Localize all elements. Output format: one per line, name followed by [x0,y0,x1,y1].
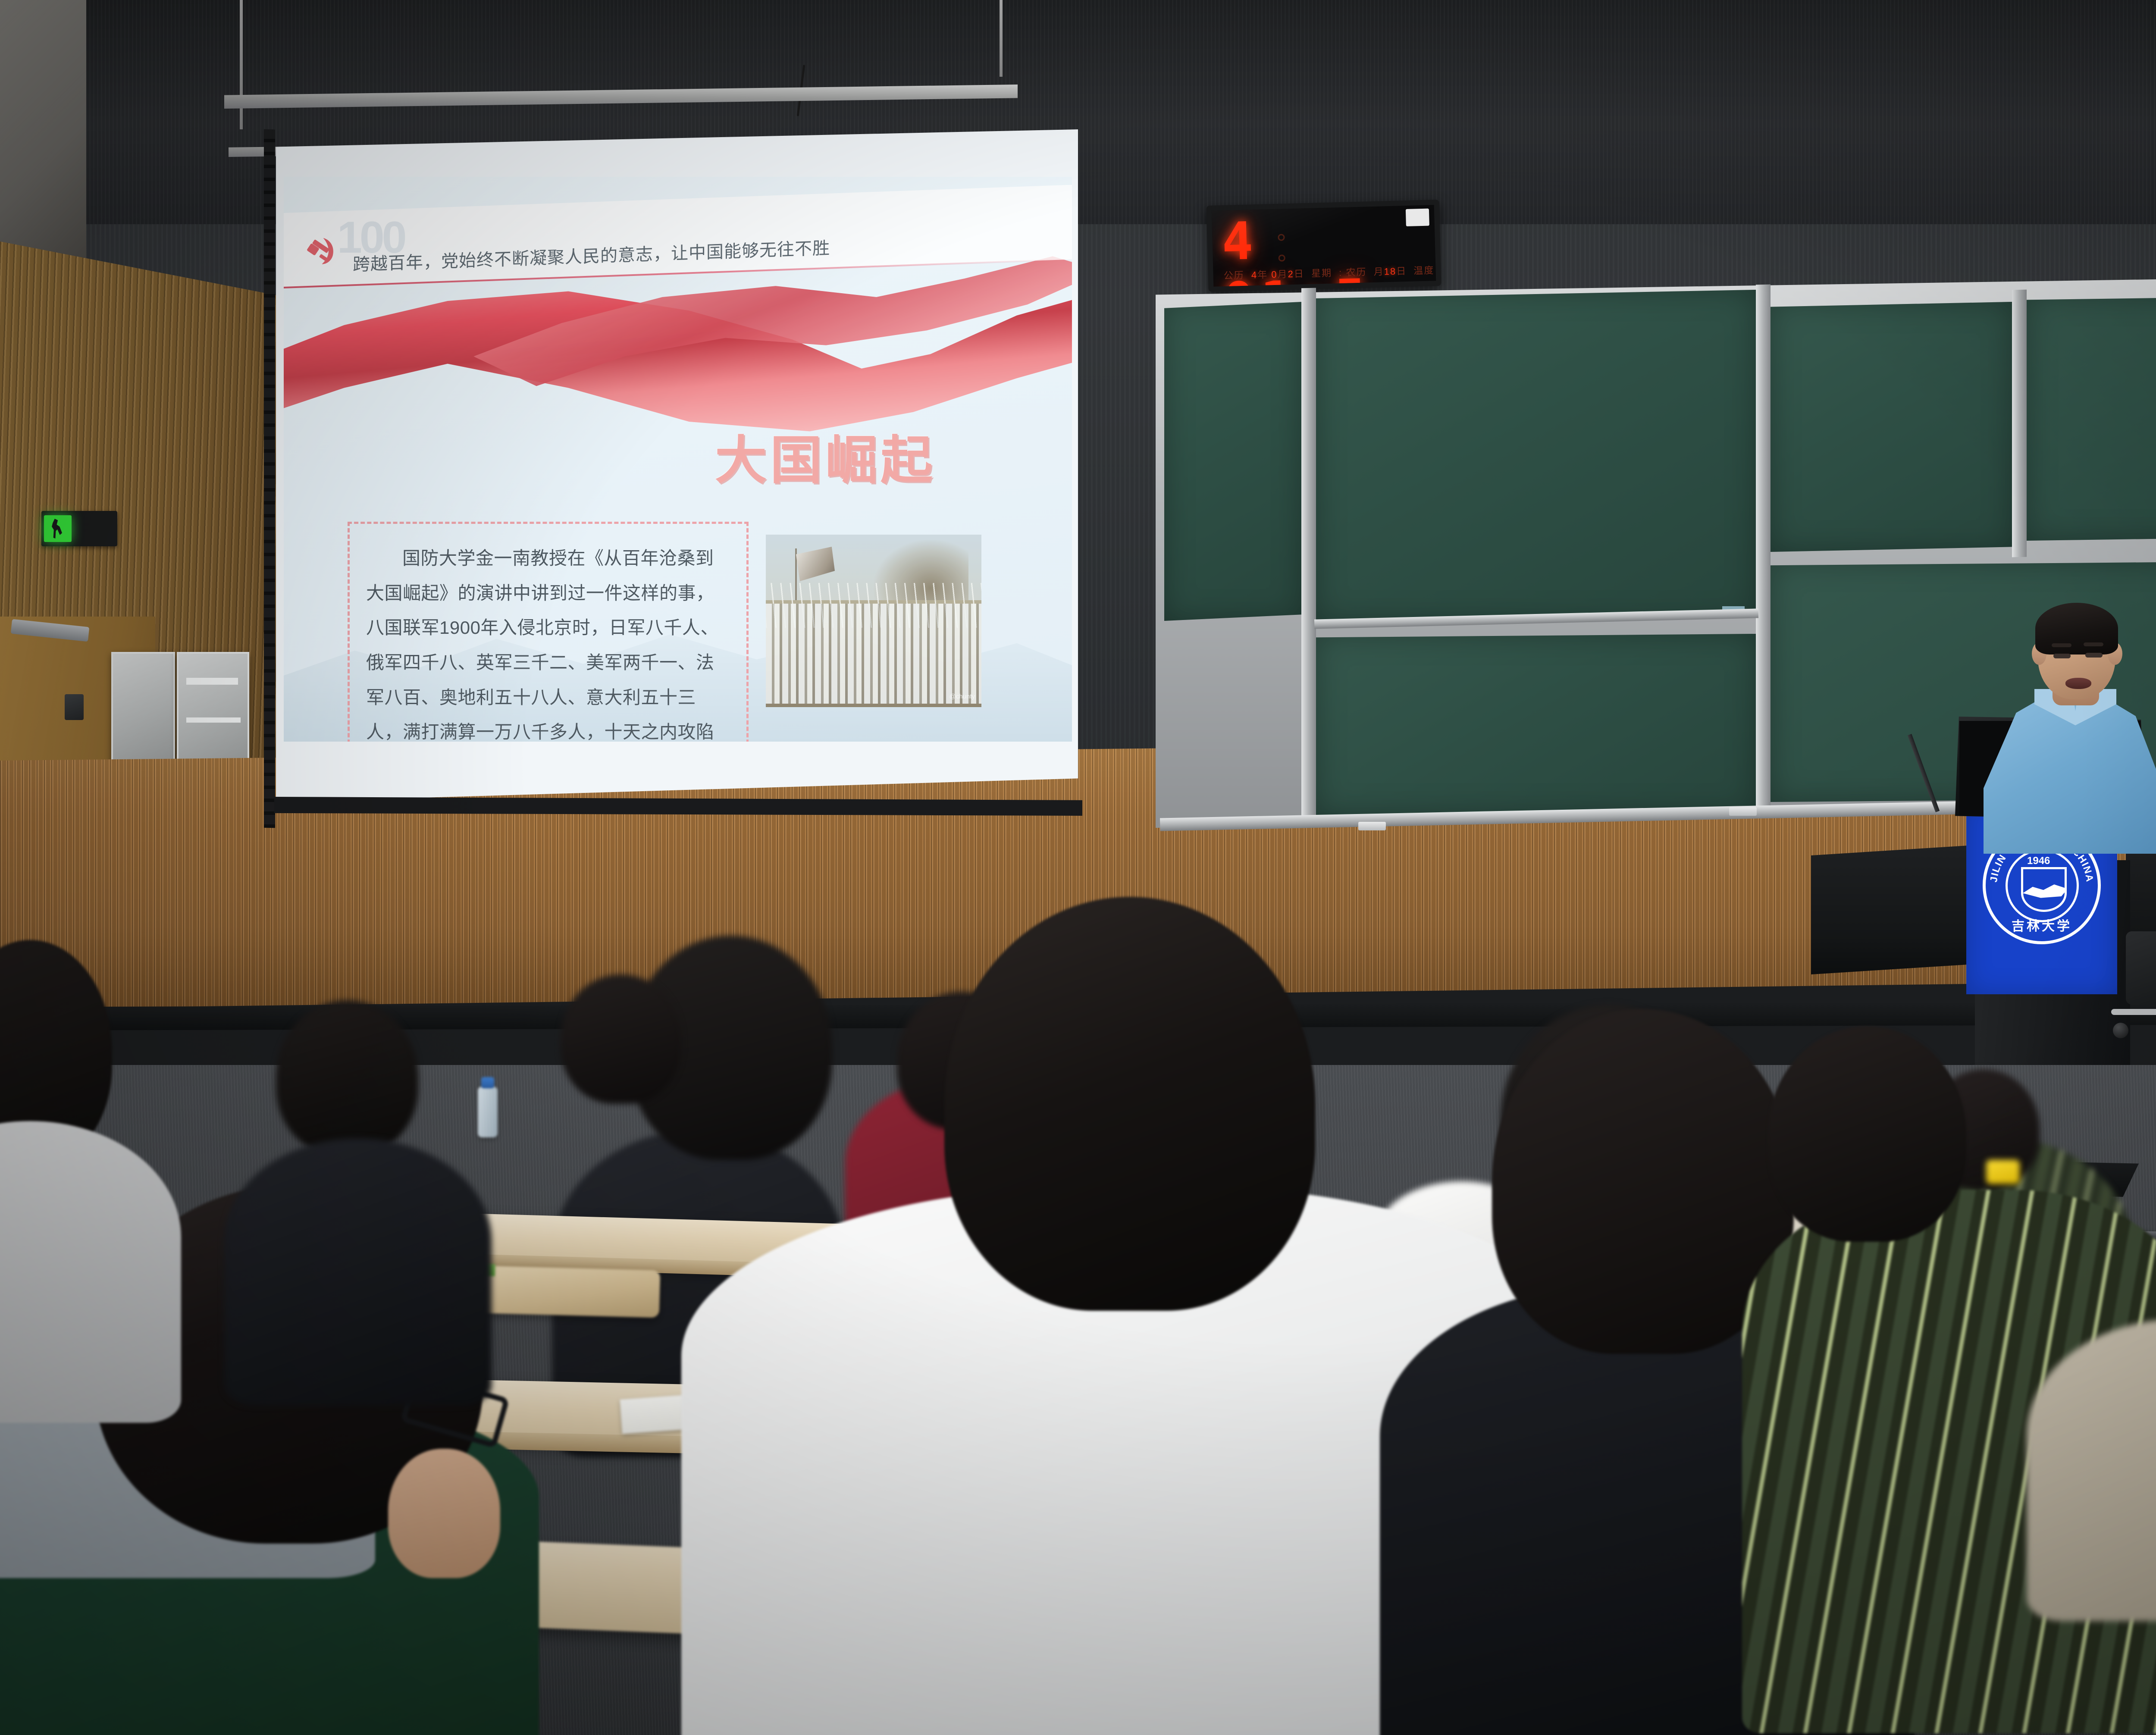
presenter-office-chair[interactable] [2126,931,2156,1005]
water-bottle-cap [481,1077,494,1088]
student-left-cluster-body [224,1138,492,1406]
blackboard-panel-3[interactable] [1771,302,2012,552]
wall-corner-plaster [0,0,86,259]
emergency-exit-sign [41,511,117,546]
water-bottle[interactable] [478,1087,498,1137]
electrical-panel-left[interactable] [111,652,175,767]
hammer-and-sickle-emblem [306,232,339,268]
lecture-hall-scene: 正在考试 请勿打扰 100 [0,0,2156,1735]
screen-edge-tabs [264,129,275,828]
speaker-brow-left [2052,643,2071,647]
slide-body-paragraph: 国防大学金一南教授在《从百年沧桑到大国崛起》的演讲中讲到过一件这样的事，八国联军… [350,524,746,742]
blackboard-mullion-2 [1756,285,1771,817]
slide-text-box: 国防大学金一南教授在《从百年沧桑到大国崛起》的演讲中讲到过一件这样的事，八国联军… [348,522,749,742]
screen-hanger-right [1000,0,1003,77]
electrical-panel-right[interactable] [177,652,249,768]
blackboard-panel-4[interactable] [2027,295,2156,541]
seal-founding-year: 1946 [2027,855,2050,867]
photo-credit: @chunty [950,693,975,700]
blackboard-panel-2[interactable] [1316,290,1756,622]
speaker-hair [2035,603,2118,655]
projection-screen: 100 跨越百年，党始终不断凝聚人民的意志，让中国能够无往不胜 大国崛起 国防大… [276,129,1078,802]
screen-hanger-left [240,0,243,129]
student-head-left-cluster-1 [276,1000,418,1156]
exit-running-man-icon [44,515,72,542]
chalkboard-eraser-1[interactable] [1358,822,1386,830]
student-head-far-1 [561,974,681,1104]
student-white-hoodie-head [944,897,1315,1311]
student-hand-on-chin [388,1449,500,1578]
office-chair-wheel-1 [2113,1023,2128,1038]
office-chair-base [2111,1009,2156,1015]
led-wall-clock: 4 01:5 公历 4年 0月2日 星期 : 农历 月18日 温度 1 C [1206,200,1441,292]
speaker-brow-right [2084,642,2103,646]
blackboard-panel-5[interactable] [1316,634,1756,815]
speaker-mouth [2065,678,2091,689]
historical-photo: @chunty [766,535,981,707]
slide-title: 大国崛起 [715,418,936,493]
wall-outlet-left[interactable] [65,694,84,720]
blackboard-panel-1[interactable] [1164,302,1302,621]
presentation-slide: 100 跨越百年，党始终不断凝聚人民的意志，让中国能够无往不胜 大国崛起 国防大… [284,177,1072,742]
seal-chinese-name: 吉林大学 [2012,915,2072,934]
blackboard-mullion-3 [2012,290,2027,557]
student-plaid-shirt-head [1768,1026,1966,1242]
stage-shelf-left [1811,845,1975,974]
yellow-case[interactable] [1986,1160,2020,1184]
speaker-eye-left [2053,654,2071,658]
blackboard-mullion-1 [1301,288,1316,819]
chalkboard-eraser-2[interactable] [1729,807,1757,816]
speaker-eye-right [2085,653,2103,658]
